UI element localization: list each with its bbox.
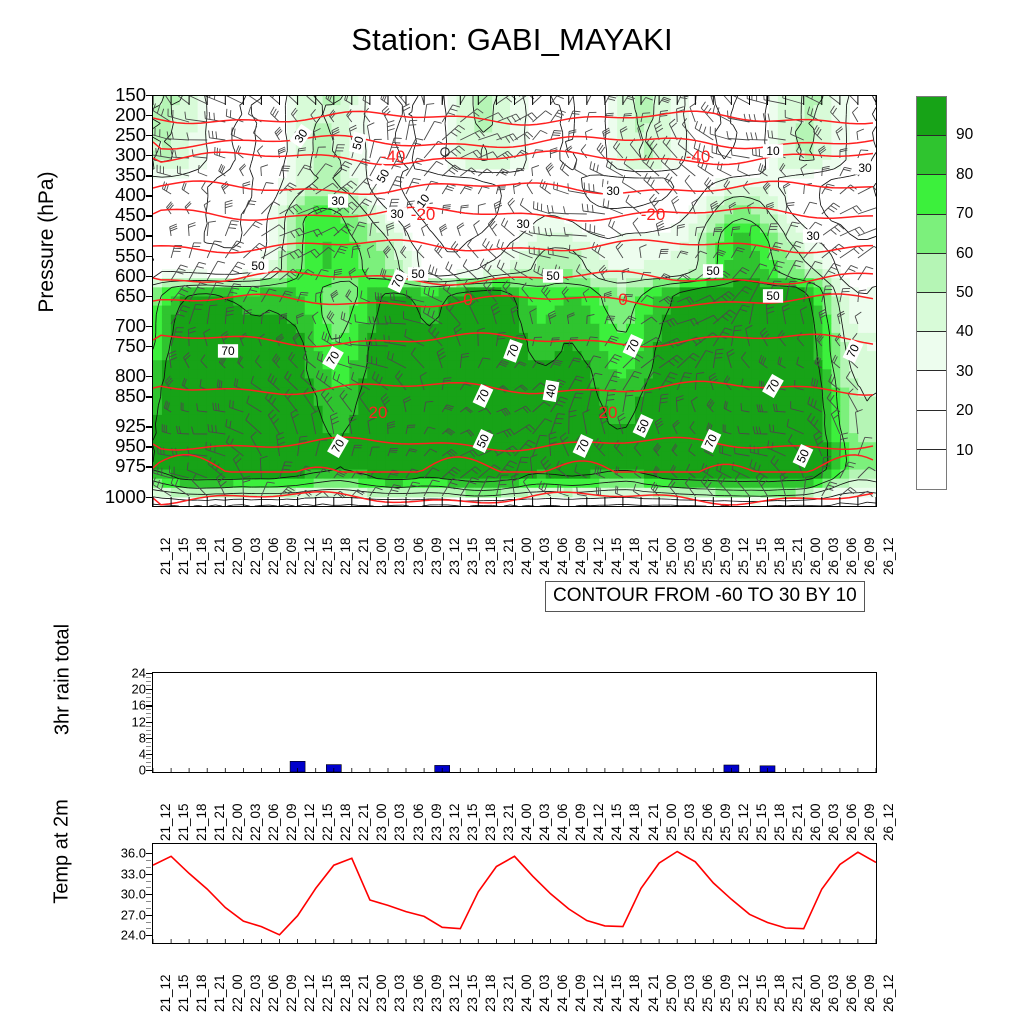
x-tick-label: 22_18 (338, 803, 353, 841)
x-tick-label: 24_00 (519, 974, 534, 1012)
x-tick-label: 23_18 (483, 974, 498, 1012)
contour-label: 70 (218, 344, 238, 358)
main-y-axis-title: Pressure (hPa) (35, 132, 59, 352)
rh-time-height-plot[interactable]: 3050503010103030303030305050505070507070… (152, 95, 877, 507)
x-tick-label: 25_03 (682, 537, 697, 575)
x-tick-label: 26_03 (826, 537, 841, 575)
rain-y-minor-tick (146, 681, 151, 682)
x-tick-label: 22_03 (248, 537, 263, 575)
x-tick-label: 24_21 (646, 537, 661, 575)
x-tick-label: 23_12 (447, 803, 462, 841)
x-tick-label: 21_15 (176, 537, 191, 575)
x-tick-label: 22_21 (356, 974, 371, 1012)
x-tick-label: 25_18 (772, 974, 787, 1012)
x-tick-label: 24_03 (537, 537, 552, 575)
x-tick-label: 21_21 (212, 537, 227, 575)
x-tick-label: 22_00 (230, 803, 245, 841)
main-y-axis-labels: 1502002503003504004505005506006507007508… (60, 95, 146, 507)
rain-y-minor-tick (146, 709, 151, 710)
rain-y-tick: 8 (139, 730, 146, 745)
x-tick-label: 23_03 (392, 803, 407, 841)
x-tick-label: 23_03 (392, 974, 407, 1012)
x-tick-label: 22_15 (320, 537, 335, 575)
temp-y-minor-tick (146, 901, 151, 902)
x-tick-label: 25_06 (700, 803, 715, 841)
x-tick-label: 25_03 (682, 803, 697, 841)
x-tick-label: 26_09 (862, 537, 877, 575)
x-tick-label: 22_09 (284, 537, 299, 575)
rain-y-tick: 4 (139, 746, 146, 761)
contour-label: 50 (248, 259, 268, 273)
x-tick-label: 23_09 (429, 537, 444, 575)
x-tick-label: 23_15 (465, 974, 480, 1012)
x-tick-label: 21_18 (194, 974, 209, 1012)
x-tick-label: 25_09 (718, 803, 733, 841)
x-tick-label: 22_12 (302, 803, 317, 841)
x-tick-label: 24_00 (519, 803, 534, 841)
temp-y-minor-tick (146, 860, 151, 861)
x-tick-label: 21_21 (212, 803, 227, 841)
x-tick-label: 24_06 (555, 974, 570, 1012)
x-tick-label: 25_21 (790, 803, 805, 841)
rain-y-minor-tick (146, 758, 151, 759)
contour-label: -20 (411, 205, 436, 224)
temp-y-tick: 27.0 (121, 907, 146, 922)
x-tick-label: 24_18 (627, 537, 642, 575)
temp-y-minor-tick (146, 887, 151, 888)
x-tick-label: 24_09 (573, 974, 588, 1012)
temp-2m-plot[interactable] (152, 843, 877, 944)
main-y-tick: 750 (115, 335, 146, 357)
x-tick-label: 24_06 (555, 537, 570, 575)
rain-y-axis-title: 3hr rain total (52, 595, 75, 765)
x-tick-label: 24_06 (555, 803, 570, 841)
temp-x-axis-labels: 21_1221_1521_1821_2122_0022_0322_0622_09… (152, 946, 875, 1016)
contour-label: 30 (387, 207, 407, 221)
x-tick-label: 22_03 (248, 974, 263, 1012)
contour-label: 20 (599, 403, 618, 422)
colorbar-tick-label: 60 (956, 245, 973, 263)
rain-x-axis-labels: 21_1221_1521_1821_2122_0022_0322_0622_09… (152, 775, 875, 845)
x-tick-label: 24_12 (591, 537, 606, 575)
contour-label: 0 (618, 290, 627, 309)
x-tick-label: 26_06 (844, 803, 859, 841)
x-tick-label: 23_00 (374, 803, 389, 841)
rain-y-minor-tick (146, 685, 151, 686)
temp-y-minor-tick (146, 881, 151, 882)
rain-y-minor-tick (146, 713, 151, 714)
x-tick-label: 25_09 (718, 537, 733, 575)
contour-label: 50 (372, 164, 394, 188)
main-y-tick: 200 (115, 104, 146, 126)
figure-root: Station: GABI_MAYAKI Pressure (hPa) 1502… (0, 0, 1024, 1024)
temp-y-minor-tick (146, 867, 151, 868)
x-tick-label: 26_09 (862, 974, 877, 1012)
x-tick-label: 22_00 (230, 537, 245, 575)
colorbar-tick-label: 40 (956, 323, 973, 341)
x-tick-label: 24_15 (609, 537, 624, 575)
main-y-tick: 450 (115, 204, 146, 226)
rain-y-tick: 0 (139, 763, 146, 778)
main-y-tick: 650 (115, 285, 146, 307)
rain-y-minor-tick (146, 717, 151, 718)
x-tick-label: 25_06 (700, 974, 715, 1012)
x-tick-label: 26_06 (844, 537, 859, 575)
x-tick-label: 22_18 (338, 974, 353, 1012)
x-tick-label: 23_03 (392, 537, 407, 575)
x-tick-label: 24_12 (591, 803, 606, 841)
main-y-tick: 975 (115, 455, 146, 477)
x-tick-label: 25_21 (790, 974, 805, 1012)
x-tick-label: 22_15 (320, 974, 335, 1012)
x-tick-label: 24_03 (537, 803, 552, 841)
colorbar-tick-label: 50 (956, 284, 973, 302)
rh-contour-svg: 3050503010103030303030305050505070507070… (153, 96, 876, 506)
rain-y-minor-tick (146, 693, 151, 694)
x-tick-label: 24_09 (573, 803, 588, 841)
main-y-tick: 500 (115, 224, 146, 246)
x-tick-label: 26_06 (844, 974, 859, 1012)
colorbar-tick-label: 70 (956, 205, 973, 223)
x-tick-label: 26_12 (881, 974, 896, 1012)
contour-label: 50 (763, 289, 783, 303)
x-tick-label: 23_09 (429, 974, 444, 1012)
x-tick-label: 24_18 (627, 803, 642, 841)
colorbar-tick-label: 90 (956, 126, 973, 144)
x-tick-label: 23_12 (447, 537, 462, 575)
x-tick-label: 26_12 (881, 803, 896, 841)
x-tick-label: 21_12 (158, 974, 173, 1012)
x-tick-label: 24_00 (519, 537, 534, 575)
x-tick-label: 24_12 (591, 974, 606, 1012)
x-tick-label: 22_09 (284, 974, 299, 1012)
x-tick-label: 22_21 (356, 537, 371, 575)
temp-y-axis-labels: 36.033.030.027.024.0 (72, 843, 146, 944)
temp-y-minor-tick (146, 928, 151, 929)
x-tick-label: 21_15 (176, 803, 191, 841)
rain-y-minor-tick (146, 746, 151, 747)
x-tick-label: 22_09 (284, 803, 299, 841)
rain-y-minor-tick (146, 766, 151, 767)
x-tick-label: 26_09 (862, 803, 877, 841)
colorbar-tick-label: 10 (956, 442, 973, 460)
temp-y-tick: 24.0 (121, 928, 146, 943)
main-y-tick: 300 (115, 144, 146, 166)
rain-y-tick: 20 (132, 682, 146, 697)
x-tick-label: 25_15 (754, 803, 769, 841)
x-tick-label: 23_00 (374, 537, 389, 575)
x-tick-label: 22_12 (302, 537, 317, 575)
rain-y-minor-tick (146, 734, 151, 735)
temp-line (153, 852, 876, 935)
contour-label: 30 (803, 229, 823, 243)
x-tick-label: 25_00 (664, 974, 679, 1012)
x-tick-label: 21_18 (194, 803, 209, 841)
temp-y-axis-title: Temp at 2m (51, 767, 74, 937)
main-y-tick: 800 (115, 365, 146, 387)
x-tick-label: 25_06 (700, 537, 715, 575)
x-tick-label: 23_12 (447, 974, 462, 1012)
rain-y-minor-tick (146, 701, 151, 702)
temp-y-tick: 33.0 (121, 866, 146, 881)
rain-y-minor-tick (146, 697, 151, 698)
x-tick-label: 22_00 (230, 974, 245, 1012)
rain-y-tick: 12 (132, 714, 146, 729)
x-tick-label: 21_21 (212, 974, 227, 1012)
contour-note: CONTOUR FROM -60 TO 30 BY 10 (545, 581, 865, 612)
x-tick-label: 22_06 (266, 974, 281, 1012)
x-tick-label: 22_18 (338, 537, 353, 575)
x-tick-label: 26_00 (808, 537, 823, 575)
x-tick-label: 22_03 (248, 803, 263, 841)
rain-y-tick: 24 (132, 666, 146, 681)
x-tick-label: 21_15 (176, 974, 191, 1012)
contour-label: 0 (463, 290, 472, 309)
rain-y-minor-tick (146, 677, 151, 678)
contour-label: 10 (763, 144, 783, 158)
x-tick-label: 24_18 (627, 974, 642, 1012)
x-tick-label: 25_18 (772, 803, 787, 841)
x-tick-label: 26_00 (808, 974, 823, 1012)
x-tick-label: 24_09 (573, 537, 588, 575)
rain-y-tick: 16 (132, 698, 146, 713)
x-tick-label: 25_12 (736, 803, 751, 841)
colorbar-tick-label: 20 (956, 402, 973, 420)
main-y-tick: 350 (115, 164, 146, 186)
x-tick-label: 24_15 (609, 974, 624, 1012)
temp-line-svg (153, 844, 876, 943)
x-tick-label: 24_21 (646, 803, 661, 841)
main-y-tick: 250 (115, 124, 146, 146)
x-tick-label: 22_06 (266, 537, 281, 575)
x-tick-label: 22_15 (320, 803, 335, 841)
rain-y-minor-tick (146, 750, 151, 751)
x-tick-label: 23_06 (411, 803, 426, 841)
x-tick-label: 24_21 (646, 974, 661, 1012)
x-tick-label: 25_00 (664, 803, 679, 841)
main-y-tick: 400 (115, 184, 146, 206)
x-tick-label: 22_06 (266, 803, 281, 841)
main-y-tick: 925 (115, 415, 146, 437)
contour-label: -20 (641, 205, 666, 224)
rain-y-minor-tick (146, 730, 151, 731)
x-tick-label: 22_21 (356, 803, 371, 841)
x-tick-label: 21_12 (158, 537, 173, 575)
x-tick-label: 24_15 (609, 803, 624, 841)
contour-label: 50 (703, 264, 723, 278)
x-tick-label: 21_18 (194, 537, 209, 575)
contour-label: 50 (543, 269, 563, 283)
x-tick-label: 23_18 (483, 537, 498, 575)
page-title: Station: GABI_MAYAKI (0, 22, 1024, 58)
x-tick-label: 25_21 (790, 537, 805, 575)
temp-y-minor-tick (146, 908, 151, 909)
x-tick-label: 25_18 (772, 537, 787, 575)
x-tick-label: 26_12 (881, 537, 896, 575)
temp-y-tick: 30.0 (121, 887, 146, 902)
contour-label: 50 (408, 267, 428, 281)
contour-label: -40 (686, 147, 711, 166)
rain-bars-svg (153, 673, 876, 772)
contour-label: 30 (603, 184, 623, 198)
x-tick-label: 23_06 (411, 974, 426, 1012)
rain-y-minor-tick (146, 726, 151, 727)
contour-label: 20 (369, 403, 388, 422)
x-tick-label: 23_15 (465, 803, 480, 841)
x-tick-label: 23_15 (465, 537, 480, 575)
rain-y-minor-tick (146, 742, 151, 743)
main-x-axis-labels: 21_1221_1521_1821_2122_0022_0322_0622_09… (152, 509, 875, 579)
main-y-tick: 950 (115, 435, 146, 457)
temp-y-tick: 36.0 (121, 846, 146, 861)
x-tick-label: 25_09 (718, 974, 733, 1012)
main-y-tick: 850 (115, 385, 146, 407)
temp-y-minor-tick (146, 922, 151, 923)
x-tick-label: 26_03 (826, 974, 841, 1012)
rain-y-axis-labels: 24201612840 (78, 672, 146, 773)
x-tick-label: 25_12 (736, 537, 751, 575)
x-tick-label: 23_21 (501, 803, 516, 841)
x-tick-label: 22_12 (302, 974, 317, 1012)
x-tick-label: 25_03 (682, 974, 697, 1012)
x-tick-label: 26_00 (808, 803, 823, 841)
x-tick-label: 23_09 (429, 803, 444, 841)
x-tick-label: 21_12 (158, 803, 173, 841)
contour-label: -40 (381, 147, 406, 166)
contour-label: 30 (855, 161, 875, 175)
rain-y-minor-tick (146, 762, 151, 763)
rain-total-plot[interactable] (152, 672, 877, 773)
main-y-tick: 150 (115, 84, 146, 106)
main-y-tick: 700 (115, 315, 146, 337)
main-y-tick: 1000 (105, 486, 146, 508)
x-tick-label: 23_00 (374, 974, 389, 1012)
colorbar-tick-label: 80 (956, 166, 973, 184)
x-tick-label: 23_21 (501, 537, 516, 575)
x-tick-label: 25_00 (664, 537, 679, 575)
x-tick-label: 26_03 (826, 803, 841, 841)
x-tick-label: 25_15 (754, 537, 769, 575)
main-y-tick: 600 (115, 265, 146, 287)
contour-label: 30 (328, 194, 348, 208)
x-tick-label: 25_12 (736, 974, 751, 1012)
contour-label: 30 (513, 217, 533, 231)
x-tick-label: 24_03 (537, 974, 552, 1012)
x-tick-label: 25_15 (754, 974, 769, 1012)
x-tick-label: 23_06 (411, 537, 426, 575)
main-y-tick: 550 (115, 245, 146, 267)
x-tick-label: 23_21 (501, 974, 516, 1012)
colorbar-labels: 908070605040302010 (916, 96, 1006, 490)
colorbar-tick-label: 30 (956, 363, 973, 381)
x-tick-label: 23_18 (483, 803, 498, 841)
